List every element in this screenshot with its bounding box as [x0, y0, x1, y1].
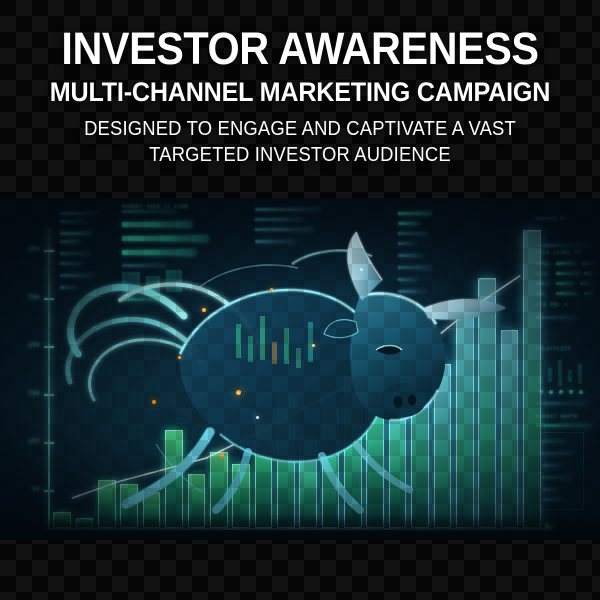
poster-canvas: MARKET FEED // LIVE SHARES A DATA LEVEL …	[0, 0, 600, 600]
artwork-vignette	[0, 198, 600, 540]
page-subtitle: MULTI-CHANNEL MARKETING CAMPAIGN	[21, 79, 579, 106]
tagline-line-1: DESIGNED TO ENGAGE AND CAPTIVATE A VAST	[24, 118, 576, 142]
page-title: INVESTOR AWARENESS	[24, 26, 576, 71]
poster-heading-block: INVESTOR AWARENESS MULTI-CHANNEL MARKETI…	[0, 0, 600, 167]
tagline-line-2: TARGETED INVESTOR AUDIENCE	[24, 144, 576, 168]
bull-chart-artwork: MARKET FEED // LIVE SHARES A DATA LEVEL …	[0, 198, 600, 540]
artwork-bottom-fade	[0, 514, 600, 540]
